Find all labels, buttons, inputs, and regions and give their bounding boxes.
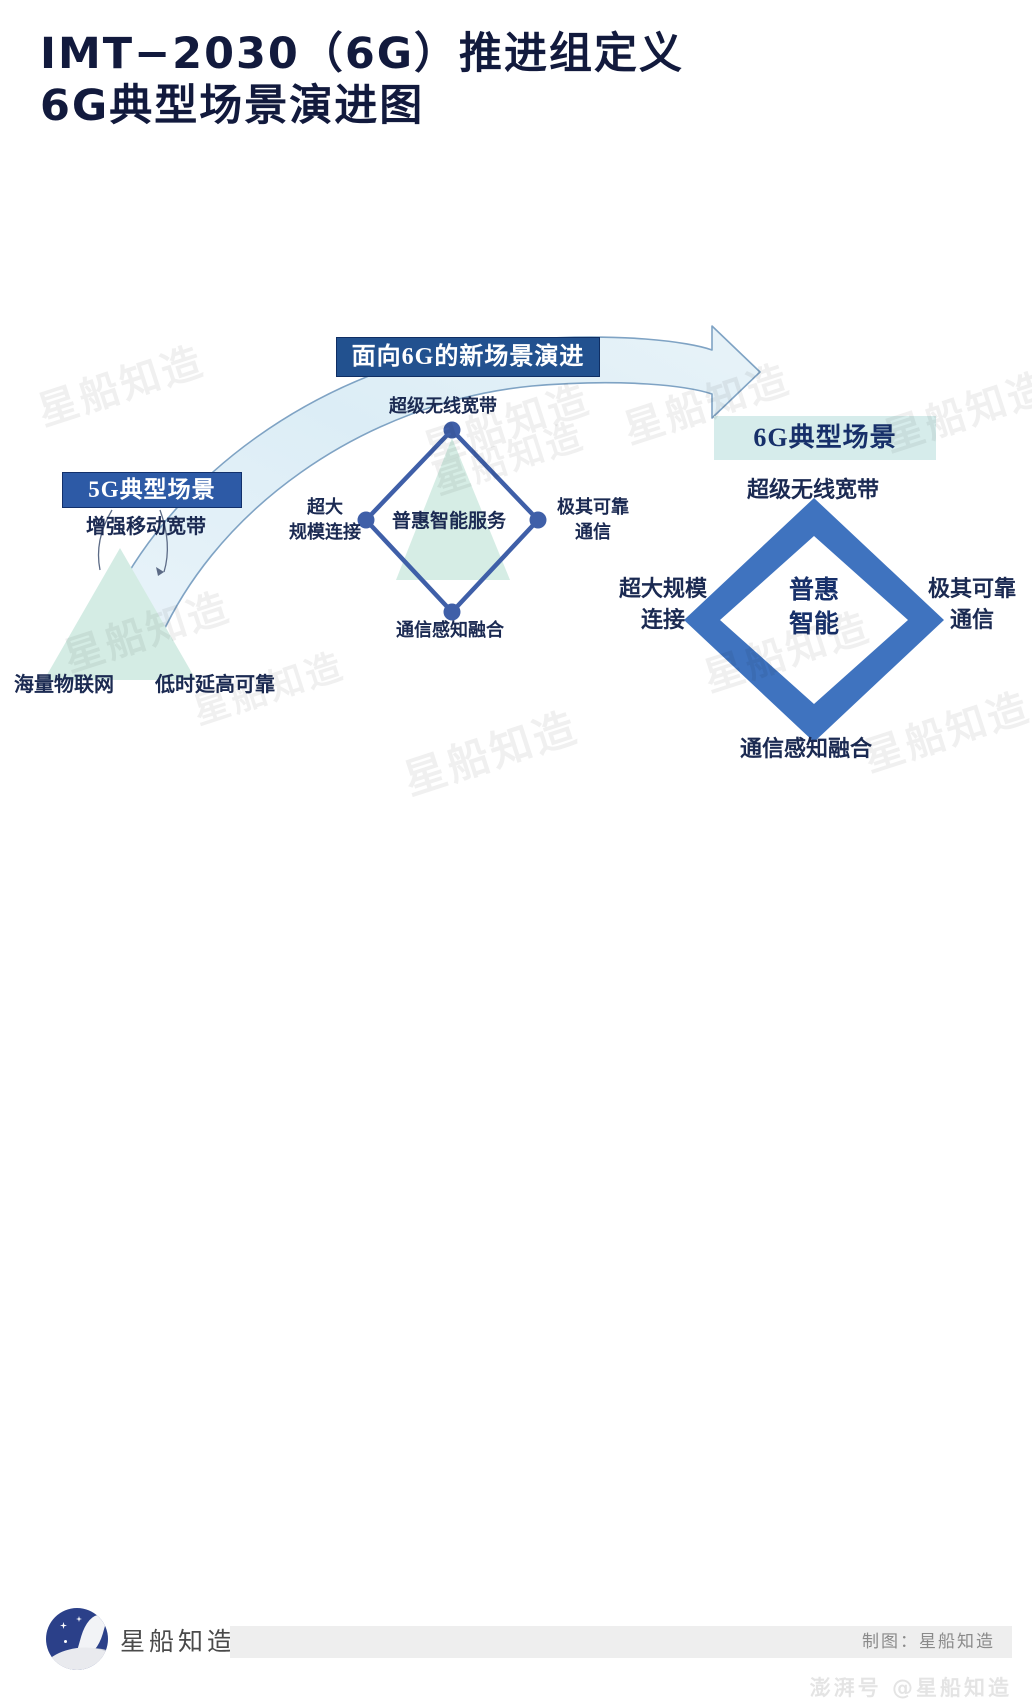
footer: 星船知造 制图：星船知造 澎湃号 @星船知造: [0, 800, 1032, 917]
label-6g-right-line1: 极其可靠: [917, 573, 1027, 604]
title-line-2: 6G典型场景演进图: [40, 80, 940, 132]
label-mid-top: 超级无线宽带: [389, 392, 497, 418]
label-6g-center: 普惠 智能: [760, 574, 868, 642]
label-mid-right: 极其可靠 通信: [552, 495, 634, 545]
label-mid-left-line2: 规模连接: [284, 520, 366, 545]
label-6g-right-line2: 通信: [917, 604, 1027, 635]
badge-evolution: 面向6G的新场景演进: [336, 337, 600, 377]
title-line-1: IMT−2030（6G）推进组定义: [40, 28, 940, 80]
label-5g-urllc: 低时延高可靠: [155, 668, 275, 697]
label-6g-right: 极其可靠 通信: [917, 573, 1027, 635]
page-title: IMT−2030（6G）推进组定义 6G典型场景演进图: [40, 28, 940, 132]
label-mid-left: 超大 规模连接: [284, 495, 366, 545]
label-6g-top: 超级无线宽带: [747, 472, 879, 504]
label-mid-bottom: 通信感知融合: [396, 616, 504, 642]
badge-5g-scenarios: 5G典型场景: [62, 472, 242, 508]
label-mid-center: 普惠智能服务: [392, 506, 506, 533]
label-5g-mmtc: 海量物联网: [14, 668, 114, 697]
label-6g-left: 超大规模 连接: [605, 573, 721, 635]
label-mid-left-line1: 超大: [284, 495, 366, 520]
label-6g-left-line1: 超大规模: [605, 573, 721, 604]
badge-6g-scenarios: 6G典型场景: [714, 416, 936, 460]
footer-credit: 制图：星船知造: [0, 1626, 995, 1658]
label-6g-center-line1: 普惠: [760, 574, 868, 608]
label-mid-right-line1: 极其可靠: [552, 495, 634, 520]
label-6g-left-line2: 连接: [605, 604, 721, 635]
label-6g-bottom: 通信感知融合: [740, 731, 872, 763]
label-mid-right-line2: 通信: [552, 520, 634, 545]
label-5g-embb: 增强移动宽带: [86, 510, 206, 539]
label-6g-center-line2: 智能: [760, 608, 868, 642]
evolution-diagram: 5G典型场景 面向6G的新场景演进 6G典型场景 增强移动宽带 海量物联网 低时…: [0, 180, 1032, 800]
platform-watermark: 澎湃号 @星船知造: [810, 1672, 1012, 1702]
